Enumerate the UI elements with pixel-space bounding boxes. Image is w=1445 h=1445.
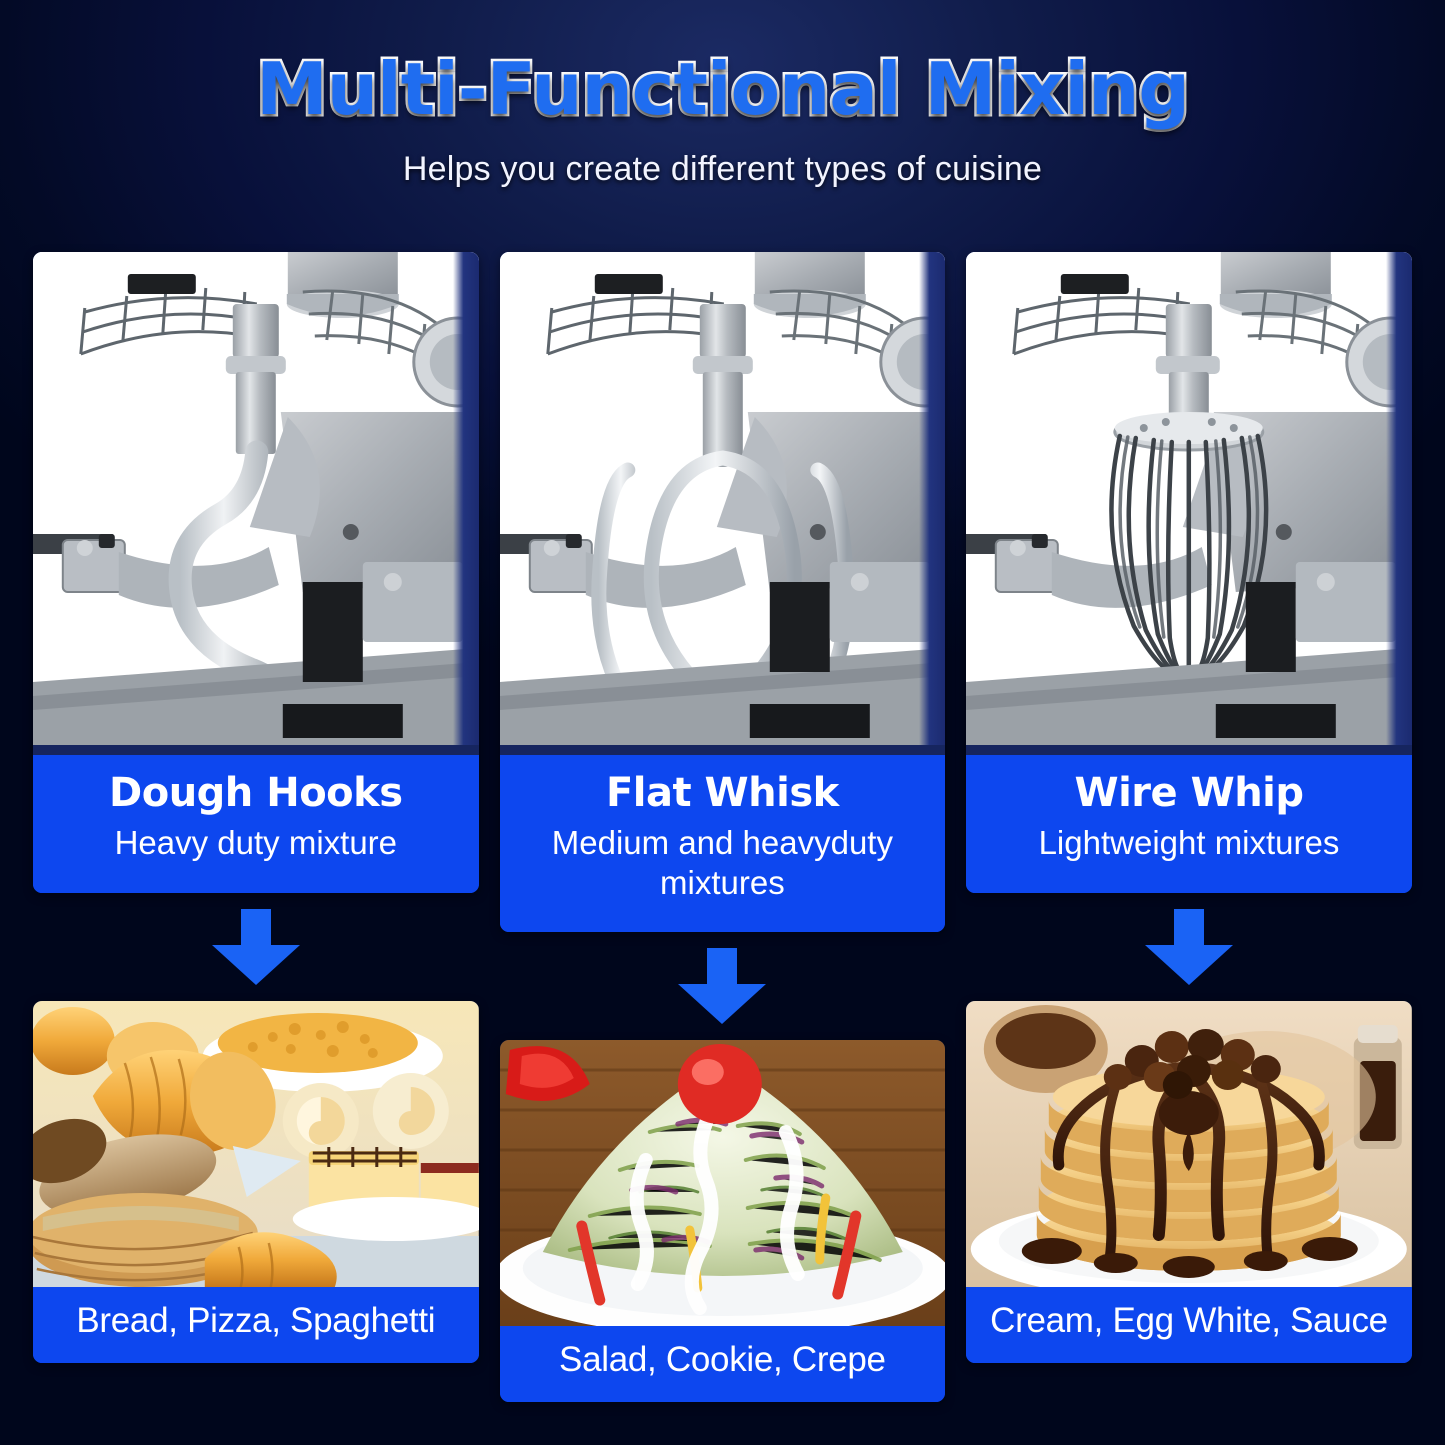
- photo-edge-shade-bottom: [500, 745, 946, 755]
- tool-description: Lightweight mixtures: [978, 823, 1400, 863]
- food-caption: Bread, Pizza, Spaghetti: [33, 1287, 479, 1363]
- photo-edge-shade: [1386, 252, 1412, 755]
- food-photo-salad: [500, 1040, 946, 1326]
- feature-column-flat-whisk: Flat Whisk Medium and heavyduty mixtures: [500, 252, 946, 1402]
- food-photo-bakery: [33, 1001, 479, 1287]
- arrow-down-icon: [208, 907, 304, 987]
- flat-beater-illustration: [500, 252, 946, 755]
- poster-header: Multi-Functional Mixing Helps you create…: [0, 0, 1445, 240]
- tool-card[interactable]: Wire Whip Lightweight mixtures: [966, 252, 1412, 893]
- tool-label-panel: Wire Whip Lightweight mixtures: [966, 755, 1412, 893]
- arrow-down-icon: [674, 946, 770, 1026]
- food-photo-pancakes: [966, 1001, 1412, 1287]
- tool-photo-dough-hook: [33, 252, 479, 755]
- tool-name: Wire Whip: [978, 771, 1400, 815]
- feature-grid: Dough Hooks Heavy duty mixture: [33, 252, 1412, 1402]
- food-card[interactable]: Salad, Cookie, Crepe: [500, 1040, 946, 1402]
- photo-edge-shade: [453, 252, 479, 755]
- arrow-container: [500, 932, 946, 1040]
- photo-edge-shade-bottom: [33, 745, 479, 755]
- dough-hook-illustration: [33, 252, 479, 755]
- food-caption: Salad, Cookie, Crepe: [500, 1326, 946, 1402]
- tool-photo-wire-whip: [966, 252, 1412, 755]
- feature-column-wire-whip: Wire Whip Lightweight mixtures: [966, 252, 1412, 1402]
- page-subtitle: Helps you create different types of cuis…: [0, 150, 1445, 189]
- photo-edge-shade: [919, 252, 945, 755]
- pancakes-illustration: [966, 1001, 1412, 1287]
- tool-name: Flat Whisk: [512, 771, 934, 815]
- tool-label-panel: Flat Whisk Medium and heavyduty mixtures: [500, 755, 946, 932]
- tool-card[interactable]: Flat Whisk Medium and heavyduty mixtures: [500, 252, 946, 932]
- promotional-poster: Multi-Functional Mixing Helps you create…: [0, 0, 1445, 1445]
- tool-label-panel: Dough Hooks Heavy duty mixture: [33, 755, 479, 893]
- tool-name: Dough Hooks: [45, 771, 467, 815]
- arrow-container: [966, 893, 1412, 1001]
- arrow-down-icon: [1141, 907, 1237, 987]
- bakery-illustration: [33, 1001, 479, 1287]
- page-title: Multi-Functional Mixing: [0, 52, 1445, 128]
- arrow-container: [33, 893, 479, 1001]
- wire-whip-illustration: [966, 252, 1412, 755]
- food-card[interactable]: Bread, Pizza, Spaghetti: [33, 1001, 479, 1363]
- food-card[interactable]: Cream, Egg White, Sauce: [966, 1001, 1412, 1363]
- tool-description: Heavy duty mixture: [45, 823, 467, 863]
- salad-illustration: [500, 1040, 946, 1326]
- tool-card[interactable]: Dough Hooks Heavy duty mixture: [33, 252, 479, 893]
- feature-column-dough-hooks: Dough Hooks Heavy duty mixture: [33, 252, 479, 1402]
- tool-description: Medium and heavyduty mixtures: [512, 823, 934, 902]
- food-caption: Cream, Egg White, Sauce: [966, 1287, 1412, 1363]
- tool-photo-flat-whisk: [500, 252, 946, 755]
- photo-edge-shade-bottom: [966, 745, 1412, 755]
